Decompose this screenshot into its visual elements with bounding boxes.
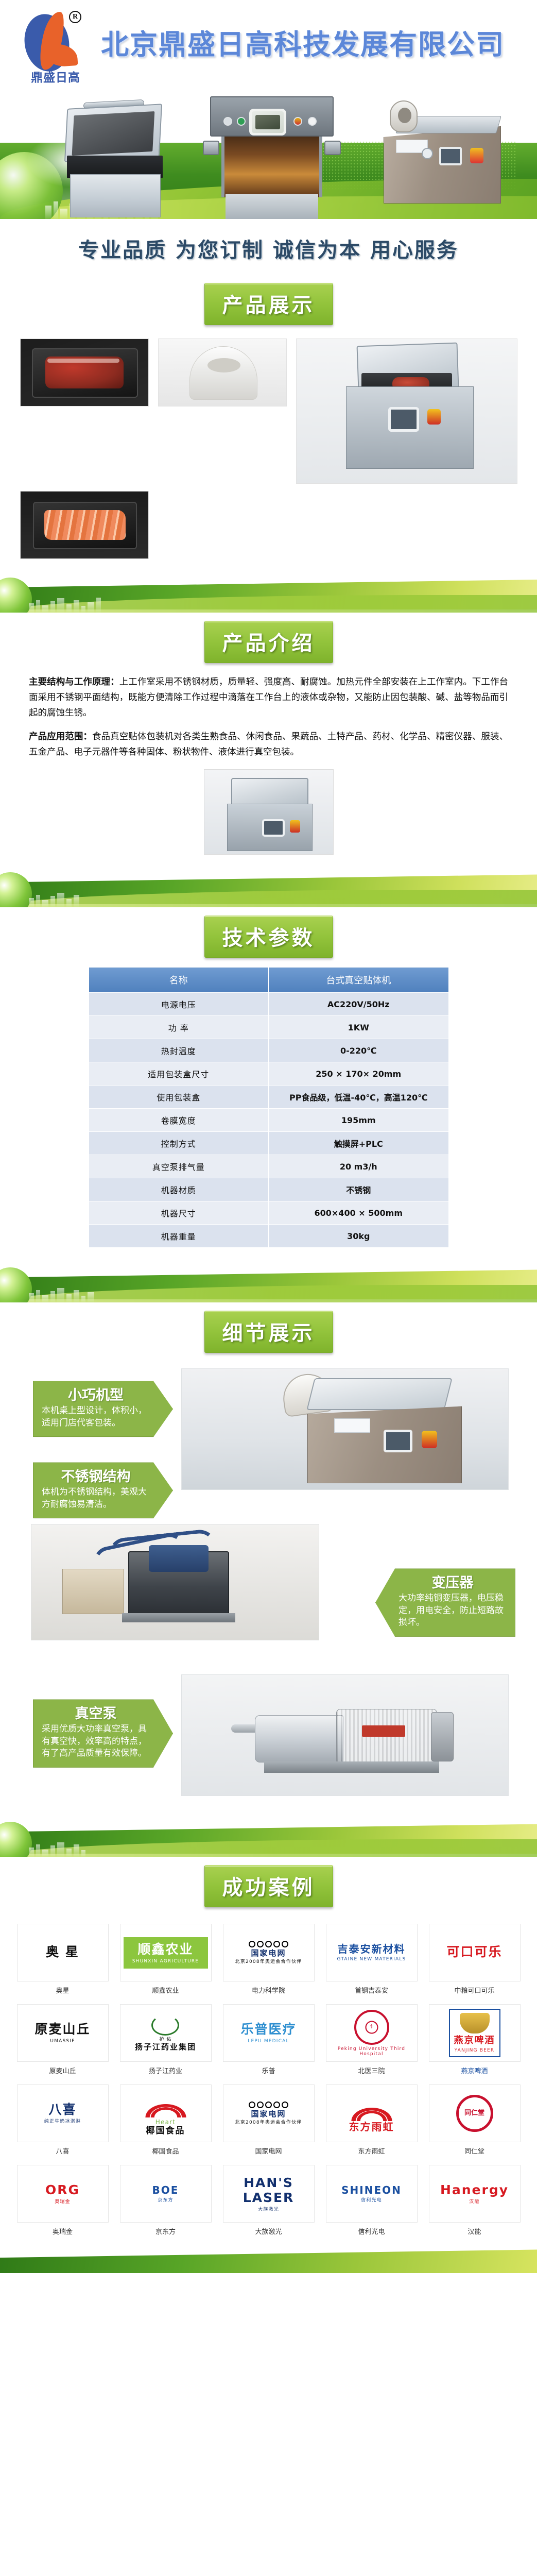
table-cell-name: 机器尺寸	[89, 1201, 269, 1225]
globe-icon-strip-3	[0, 1267, 32, 1302]
client-logo-mark: ⚕Peking University Third Hospital	[326, 2004, 418, 2062]
client-logo-item[interactable]: 乐普医疗LEPU MEDICAL乐普	[223, 2004, 315, 2075]
showcase-row-bottom	[0, 491, 537, 559]
client-logo-item[interactable]: Hanergy汉能汉能	[429, 2165, 521, 2236]
client-logo-caption: 八喜	[17, 2142, 109, 2156]
intro-title-section: 产品介绍	[0, 613, 537, 669]
client-logo-mark: Hanergy汉能	[429, 2165, 521, 2223]
client-logo-item[interactable]: 燕京啤酒YANJING BEER燕京啤酒	[429, 2004, 521, 2075]
table-cell-value: 1KW	[269, 1016, 449, 1039]
callout-desc-compact: 本机桌上型设计，体积小，适用门店代客包装。	[42, 1405, 150, 1429]
client-logo-mark: 国家电网北京2008年奥运会合作伙伴	[223, 2084, 315, 2142]
table-cell-name: 使用包装盒	[89, 1086, 269, 1109]
table-row: 适用包装盒尺寸250 × 170× 20mm	[89, 1062, 448, 1086]
client-logo-item[interactable]: 八喜纯正牛奶冰淇淋八喜	[17, 2084, 109, 2156]
detail-row-machine: 小巧机型 本机桌上型设计，体积小，适用门店代客包装。 不锈钢结构 体机为不锈钢结…	[0, 1364, 537, 1493]
table-row: 机器材质不锈钢	[89, 1178, 448, 1201]
client-logo-item[interactable]: 原麦山丘UMASSIF原麦山丘	[17, 2004, 109, 2075]
showcase-title-section: 产品展示	[0, 275, 537, 331]
cases-title-section: 成功案例	[0, 1857, 537, 1913]
photo-vacuum-packed-meat	[20, 338, 149, 406]
client-logo-caption: 顺鑫农业	[120, 1981, 212, 1995]
green-divider-strip-2	[0, 870, 537, 907]
client-logo-caption: 椰国食品	[120, 2142, 212, 2156]
product-photo-skin-packaging-machine	[210, 91, 334, 219]
client-logo-caption: 汉能	[429, 2223, 521, 2236]
client-logo-mark: 八喜纯正牛奶冰淇淋	[17, 2084, 109, 2142]
detail-title-section: 细节展示	[0, 1302, 537, 1359]
table-cell-value: 195mm	[269, 1109, 449, 1132]
table-cell-name: 电源电压	[89, 993, 269, 1016]
client-logo-mark: 原麦山丘UMASSIF	[17, 2004, 109, 2062]
machine-cylinder-right	[324, 141, 341, 155]
detail-row-vacuum-pump: 真空泵 采用优质大功率真空泵，具有真空快，效率高的特点，有了高产品质量有效保障。	[0, 1671, 537, 1800]
machine-selector-knob	[308, 117, 317, 126]
company-logo-icon: R 鼎盛日高	[22, 7, 90, 84]
intro-paragraph-application: 产品应用范围：食品真空贴体包装机对各类生熟食品、休闲食品、果蔬品、土特产品、药材…	[29, 729, 508, 760]
machine-cabinet	[226, 194, 318, 219]
client-logo-caption: 乐普	[223, 2062, 315, 2075]
product-photo-chamber-machine	[57, 106, 170, 217]
green-divider-strip-4	[0, 1820, 537, 1857]
table-row: 使用包装盒PP食品级，低温-40℃，高温120℃	[89, 1086, 448, 1109]
table-cell-value: 250 × 170× 20mm	[269, 1062, 449, 1086]
table-cell-value: 600×400 × 500mm	[269, 1201, 449, 1225]
table-row: 电源电压AC220V/50Hz	[89, 993, 448, 1016]
callout-transformer: 变压器 大功率纯铜变压器，电压稳定，用电安全，防止短路故损坏。	[375, 1568, 515, 1636]
detail-showcase-section: 小巧机型 本机桌上型设计，体积小，适用门店代客包装。 不锈钢结构 体机为不锈钢结…	[0, 1359, 537, 1804]
product-intro-section: 主要结构与工作原理：上工作室采用不锈钢材质，质量轻、强度高、耐腐蚀。加热元件全部…	[0, 669, 537, 870]
table-header-name: 名称	[89, 968, 269, 993]
client-logo-mark: 吉泰安新材料GTAINE NEW MATERIALS	[326, 1924, 418, 1981]
callout-title-pump: 真空泵	[42, 1706, 150, 1722]
table-cell-value: AC220V/50Hz	[269, 993, 449, 1016]
table-header-value: 台式真空贴体机	[269, 968, 449, 993]
vacuum-gauge-icon	[422, 148, 433, 159]
table-cell-value: 不锈钢	[269, 1178, 449, 1201]
client-logo-item[interactable]: 顺鑫农业SHUNXIN AGRICULTURE顺鑫农业	[120, 1924, 212, 1995]
table-cell-value: 0-220℃	[269, 1039, 449, 1062]
callout-compact-model: 小巧机型 本机桌上型设计，体积小，适用门店代客包装。	[33, 1381, 173, 1437]
table-cell-value: 触摸屏+PLC	[269, 1132, 449, 1155]
detail-row-transformer: 变压器 大功率纯铜变压器，电压稳定，用电安全，防止短路故损坏。	[0, 1524, 537, 1653]
client-logo-mark: Heart椰国食品	[120, 2084, 212, 2142]
slogan-text: 专业品质 为您订制 诚信为本 用心服务	[0, 233, 537, 263]
hero-banner	[0, 90, 537, 219]
registered-trademark-icon: R	[69, 11, 81, 23]
slogan-section: 专业品质 为您订制 诚信为本 用心服务	[0, 219, 537, 275]
table-cell-name: 热封温度	[89, 1039, 269, 1062]
table-cell-name: 功 率	[89, 1016, 269, 1039]
table-row: 功 率1KW	[89, 1016, 448, 1039]
client-logos-section: 奥 星奥星顺鑫农业SHUNXIN AGRICULTURE顺鑫农业国家电网北京20…	[0, 1913, 537, 2249]
machine-cylinder-left	[203, 141, 219, 155]
product-showcase-gallery	[0, 331, 537, 575]
client-logo-mark: 同仁堂	[429, 2084, 521, 2142]
client-logo-caption: 大族激光	[223, 2223, 315, 2236]
client-logo-item[interactable]: 国家电网北京2008年奥运会合作伙伴国家电网	[223, 2084, 315, 2156]
globe-icon-strip-2	[0, 872, 32, 907]
table-cell-name: 机器材质	[89, 1178, 269, 1201]
footer-green-strip	[0, 2249, 537, 2273]
intro-photo-row	[29, 760, 508, 857]
client-logo-mark: 奥 星	[17, 1924, 109, 1981]
green-divider-strip-3	[0, 1265, 537, 1302]
client-logo-grid: 奥 星奥星顺鑫农业SHUNXIN AGRICULTURE顺鑫农业国家电网北京20…	[0, 1917, 537, 2236]
callout-desc-pump: 采用优质大功率真空泵，具有真空快，效率高的特点，有了高产品质量有效保障。	[42, 1723, 150, 1759]
machine-emergency-stop-button	[293, 117, 302, 126]
client-logo-item[interactable]: HAN'S LASER大族激光大族激光	[223, 2165, 315, 2236]
client-logo-caption: 扬子江药业	[120, 2062, 212, 2075]
client-logo-caption: 国家电网	[223, 2142, 315, 2156]
client-logo-caption: 同仁堂	[429, 2142, 521, 2156]
machine-heating-chamber	[221, 137, 322, 197]
table-cell-value: 20 m3/h	[269, 1155, 449, 1178]
client-logo-caption: 原麦山丘	[17, 2062, 109, 2075]
table-row: 热封温度0-220℃	[89, 1039, 448, 1062]
machine-base	[70, 174, 161, 217]
machine-button-grey	[223, 117, 232, 126]
client-logo-mark: 燕京啤酒YANJING BEER	[429, 2004, 521, 2062]
table-cell-name: 真空泵排气量	[89, 1155, 269, 1178]
client-logo-mark: SHINEON信利光电	[326, 2165, 418, 2223]
client-logo-item[interactable]: 国家电网北京2008年奥运会合作伙伴电力科学院	[223, 1924, 315, 1995]
callout-title-transformer: 变压器	[399, 1575, 507, 1591]
globe-icon-strip	[0, 578, 32, 613]
machine-power-switch	[470, 148, 483, 163]
photo-machine-detail-angle	[181, 1368, 509, 1490]
client-logo-caption: 首钢吉泰安	[326, 1981, 418, 1995]
green-divider-strip-1	[0, 575, 537, 613]
table-cell-value: 30kg	[269, 1225, 449, 1248]
showcase-row-top	[0, 338, 537, 484]
client-logo-item[interactable]: 奥 星奥星	[17, 1924, 109, 1995]
table-row: 机器尺寸600×400 × 500mm	[89, 1201, 448, 1225]
table-cell-value: PP食品级，低温-40℃，高温120℃	[269, 1086, 449, 1109]
table-cell-name: 适用包装盒尺寸	[89, 1062, 269, 1086]
photo-machine-open-with-product	[296, 338, 517, 484]
client-logo-caption: 信利光电	[326, 2223, 418, 2236]
section-badge-showcase: 产品展示	[204, 283, 333, 325]
logo-wordmark: 鼎盛日高	[24, 67, 88, 85]
technical-parameters-table: 名称 台式真空贴体机 电源电压AC220V/50Hz功 率1KW热封温度0-22…	[89, 967, 449, 1248]
specs-title-section: 技术参数	[0, 907, 537, 964]
machine-lid-inner	[72, 111, 155, 156]
client-logo-item[interactable]: 同仁堂同仁堂	[429, 2084, 521, 2156]
intro-label-application: 产品应用范围：	[29, 732, 92, 742]
product-photo-film-roll-machine	[378, 103, 508, 206]
callout-vacuum-pump: 真空泵 采用优质大功率真空泵，具有真空快，效率高的特点，有了高产品质量有效保障。	[33, 1699, 173, 1767]
site-header: R 鼎盛日高 北京鼎盛日高科技发展有限公司	[0, 0, 537, 90]
photo-packaging-film-roll	[158, 338, 287, 406]
callout-desc-transformer: 大功率纯铜变压器，电压稳定，用电安全，防止短路故损坏。	[399, 1592, 507, 1629]
client-logo-item[interactable]: SHINEON信利光电信利光电	[326, 2165, 418, 2236]
callout-title-compact: 小巧机型	[42, 1387, 150, 1404]
section-badge-detail: 细节展示	[204, 1311, 333, 1353]
client-logo-item[interactable]: 护 佑扬子江药业集团扬子江药业	[120, 2004, 212, 2075]
machine-control-head	[210, 96, 334, 137]
table-header-row: 名称 台式真空贴体机	[89, 968, 448, 993]
machine-lid	[64, 104, 162, 162]
client-logo-mark: 顺鑫农业SHUNXIN AGRICULTURE	[120, 1924, 212, 1981]
table-cell-name: 卷膜宽度	[89, 1109, 269, 1132]
table-cell-name: 机器重量	[89, 1225, 269, 1248]
client-logo-mark: 乐普医疗LEPU MEDICAL	[223, 2004, 315, 2062]
company-name-heading: 北京鼎盛日高科技发展有限公司	[101, 30, 505, 60]
client-logo-mark: 国家电网北京2008年奥运会合作伙伴	[223, 1924, 315, 1981]
spec-table-section: 名称 台式真空贴体机 电源电压AC220V/50Hz功 率1KW热封温度0-22…	[0, 964, 537, 1265]
client-logo-item[interactable]: BOE京东方京东方	[120, 2165, 212, 2236]
client-logo-item[interactable]: 东方雨虹东方雨虹	[326, 2084, 418, 2156]
table-row: 卷膜宽度195mm	[89, 1109, 448, 1132]
client-logo-item[interactable]: Heart椰国食品椰国食品	[120, 2084, 212, 2156]
intro-paragraph-principle: 主要结构与工作原理：上工作室采用不锈钢材质，质量轻、强度高、耐腐蚀。加热元件全部…	[29, 674, 508, 721]
callout-desc-stainless: 体机为不锈钢结构，美观大方耐腐蚀易清洁。	[42, 1486, 150, 1511]
client-logo-caption: 电力科学院	[223, 1981, 315, 1995]
client-logo-caption: 京东方	[120, 2223, 212, 2236]
client-logo-item[interactable]: ORG奥瑞金奥瑞金	[17, 2165, 109, 2236]
client-logo-mark: HAN'S LASER大族激光	[223, 2165, 315, 2223]
machine-button-green	[237, 117, 246, 126]
machine-touchscreen-small	[439, 147, 462, 165]
client-logo-mark: BOE京东方	[120, 2165, 212, 2223]
client-logo-mark: 护 佑扬子江药业集团	[120, 2004, 212, 2062]
client-logo-item[interactable]: 吉泰安新材料GTAINE NEW MATERIALS首钢吉泰安	[326, 1924, 418, 1995]
photo-vacuum-pump	[181, 1674, 509, 1796]
machine-touchscreen	[249, 109, 286, 135]
photo-tabletop-machine	[204, 769, 334, 855]
film-roll-icon	[390, 100, 418, 132]
client-logo-item[interactable]: ⚕Peking University Third Hospital北医三院	[326, 2004, 418, 2075]
client-logo-mark: 东方雨虹	[326, 2084, 418, 2142]
client-logo-caption: 北医三院	[326, 2062, 418, 2075]
callout-title-stainless: 不锈钢结构	[42, 1469, 150, 1485]
client-logo-caption: 中粮可口可乐	[429, 1981, 521, 1995]
client-logo-caption: 奥瑞金	[17, 2223, 109, 2236]
table-row: 机器重量30kg	[89, 1225, 448, 1248]
section-badge-specs: 技术参数	[204, 916, 333, 958]
table-row: 控制方式触摸屏+PLC	[89, 1132, 448, 1155]
client-logo-mark: 可口可乐	[429, 1924, 521, 1981]
photo-transformer	[31, 1524, 319, 1640]
table-cell-name: 控制方式	[89, 1132, 269, 1155]
section-badge-cases: 成功案例	[204, 1865, 333, 1907]
client-logo-caption: 奥星	[17, 1981, 109, 1995]
intro-label-principle: 主要结构与工作原理：	[29, 677, 119, 687]
photo-vacuum-packed-salmon	[20, 491, 149, 559]
section-badge-intro: 产品介绍	[204, 621, 333, 663]
globe-icon-strip-4	[0, 1822, 32, 1857]
client-logo-mark: ORG奥瑞金	[17, 2165, 109, 2223]
callout-stainless-steel: 不锈钢结构 体机为不锈钢结构，美观大方耐腐蚀易清洁。	[33, 1462, 173, 1518]
product-detail-page: R 鼎盛日高 北京鼎盛日高科技发展有限公司	[0, 0, 537, 2273]
client-logo-item[interactable]: 可口可乐中粮可口可乐	[429, 1924, 521, 1995]
table-row: 真空泵排气量20 m3/h	[89, 1155, 448, 1178]
intro-text-application: 食品真空贴体包装机对各类生熟食品、休闲食品、果蔬品、土特产品、药材、化学品、精密…	[29, 732, 508, 757]
client-logo-caption: 东方雨虹	[326, 2142, 418, 2156]
client-logo-caption: 燕京啤酒	[429, 2062, 521, 2075]
